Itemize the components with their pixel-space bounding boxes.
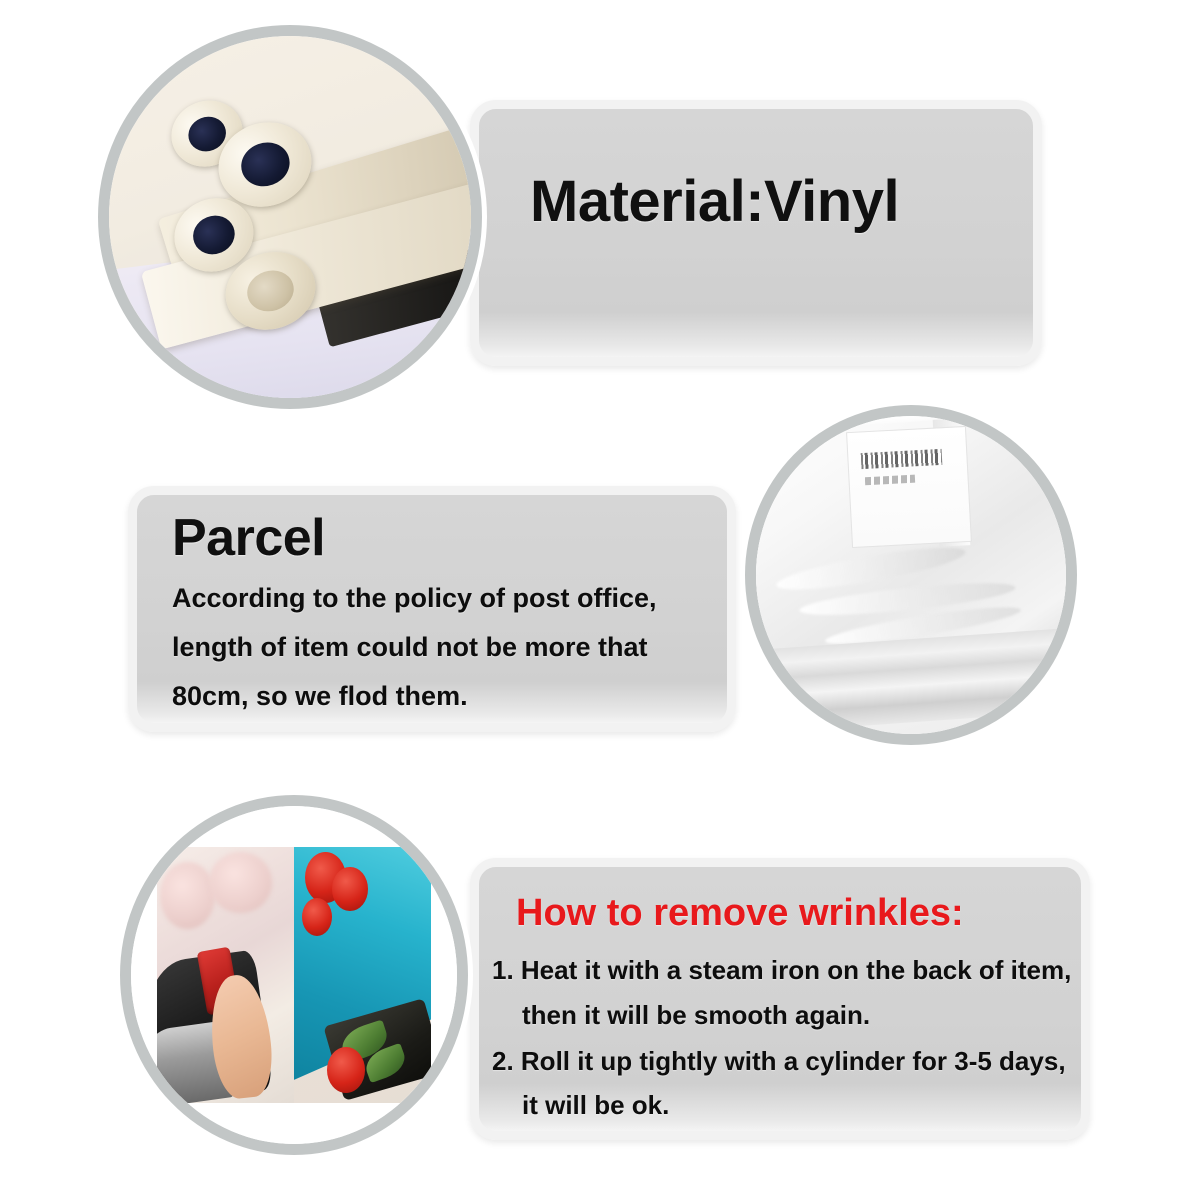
wrinkle-removal-photo [131,806,457,1144]
ironing-photo-half [157,847,294,1104]
vinyl-roll-2-core [234,136,295,193]
wrinkle-scene-backdrop [131,806,457,1144]
parcel-heading: Parcel [172,508,325,568]
wrinkle-split-photo [157,847,431,1104]
vinyl-scene-backdrop [109,36,471,398]
vinyl-rolls-photo-medallion [98,25,482,409]
parcel-photo [756,416,1066,734]
wrinkles-step-1-line-2: then it will be smooth again. [522,1000,870,1031]
parcel-text-line-3: 80cm, so we flod them. [172,681,468,712]
parcel-text-line-1: According to the policy of post office, [172,583,657,614]
red-flower-2 [332,867,368,911]
blossom-2 [209,852,272,914]
vinyl-rolls-photo [109,36,471,398]
parcel-shipping-label [846,426,972,549]
vinyl-roll-4-core [242,265,299,317]
wrinkle-removal-photo-medallion [120,795,468,1155]
smooth-backdrop-photo-half [294,847,431,1104]
red-flower-4 [327,1047,365,1093]
wrinkles-step-2-line-2: it will be ok. [522,1090,669,1121]
blossom-1 [160,862,215,929]
vinyl-roll-3-core [188,210,241,260]
wrinkles-step-2-line-1: 2. Roll it up tightly with a cylinder fo… [492,1046,1066,1077]
wrinkles-heading: How to remove wrinkles: [516,892,964,935]
parcel-text-line-2: length of item could not be more that [172,632,648,663]
material-heading: Material:Vinyl [530,168,899,235]
parcel-scene-backdrop [756,416,1066,734]
parcel-photo-medallion [745,405,1077,745]
wrinkles-step-1-line-1: 1. Heat it with a steam iron on the back… [492,955,1071,986]
